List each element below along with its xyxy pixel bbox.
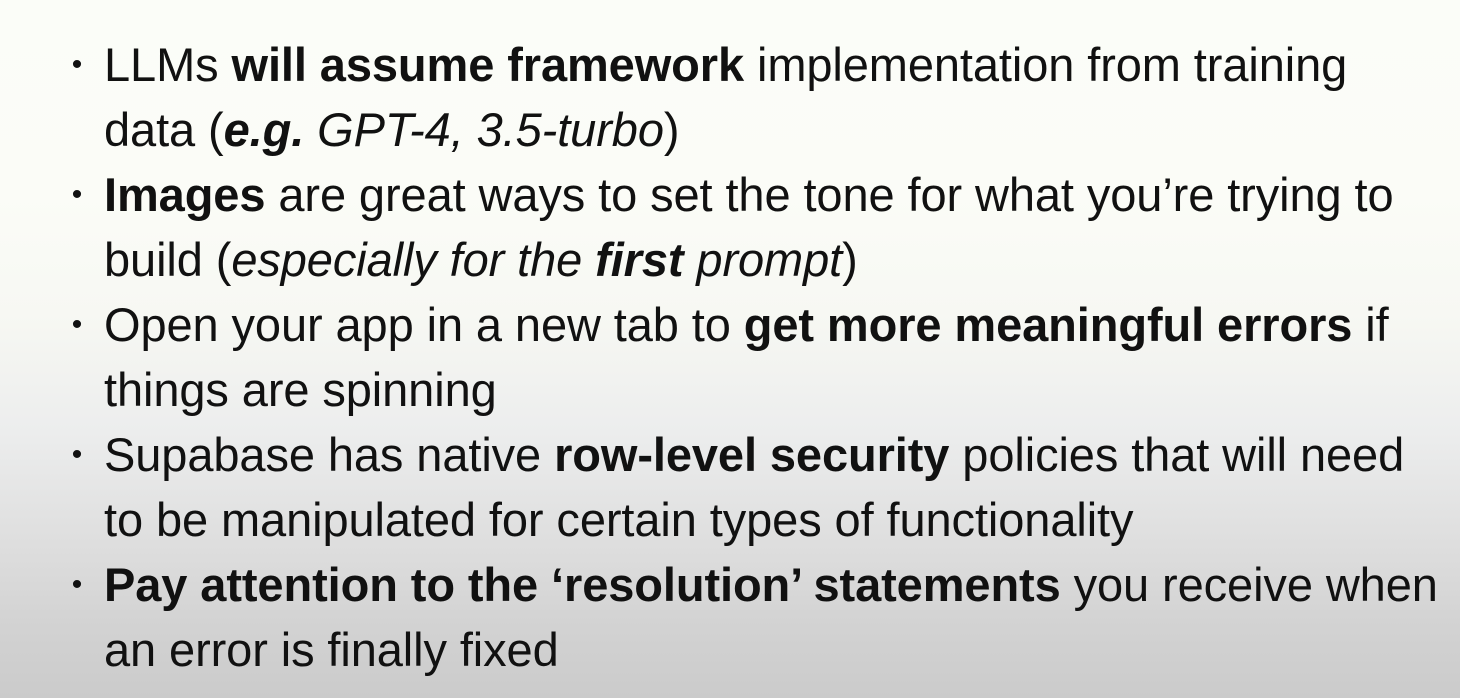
regular-run: Supabase has native (104, 428, 554, 481)
bullet-item: •Open your app in a new tab to get more … (58, 292, 1442, 422)
bold-italic-run-inner: e.g. (224, 103, 305, 156)
bullet-item: •Supabase has native row-level security … (58, 422, 1442, 552)
regular-run: Open your app in a new tab to (104, 298, 744, 351)
regular-run: ) (842, 233, 858, 286)
bullet-point-icon: • (66, 422, 88, 487)
bold-italic-run-inner: first (595, 233, 683, 286)
bold-italic-run: first (595, 233, 683, 286)
bullet-point-icon: • (66, 552, 88, 617)
italic-run: prompt (683, 233, 842, 286)
bold-run: get more meaningful errors (744, 298, 1353, 351)
bullet-point-icon: • (66, 162, 88, 227)
bold-italic-run: e.g. (224, 103, 305, 156)
bullet-list: •LLMs will assume framework implementati… (58, 32, 1442, 682)
bullet-item: •LLMs will assume framework implementati… (58, 32, 1442, 162)
bullet-text: Images are great ways to set the tone fo… (104, 162, 1442, 292)
bold-run: row-level security (554, 428, 949, 481)
bold-run: Images (104, 168, 265, 221)
bullet-item: •Images are great ways to set the tone f… (58, 162, 1442, 292)
bullet-point-icon: • (66, 292, 88, 357)
bullet-item: •Pay attention to the ‘resolution’ state… (58, 552, 1442, 682)
bold-run: Pay attention to the ‘resolution’ statem… (104, 558, 1061, 611)
bullet-text: Pay attention to the ‘resolution’ statem… (104, 552, 1442, 682)
bold-run: will assume framework (232, 38, 745, 91)
regular-run: LLMs (104, 38, 232, 91)
bullet-text: Supabase has native row-level security p… (104, 422, 1442, 552)
bullet-point-icon: • (66, 32, 88, 97)
italic-run: GPT-4, 3.5-turbo (304, 103, 664, 156)
slide-canvas: •LLMs will assume framework implementati… (0, 0, 1460, 698)
italic-run: especially for the (231, 233, 595, 286)
bullet-text: Open your app in a new tab to get more m… (104, 292, 1442, 422)
regular-run: ) (664, 103, 680, 156)
bullet-text: LLMs will assume framework implementatio… (104, 32, 1442, 162)
